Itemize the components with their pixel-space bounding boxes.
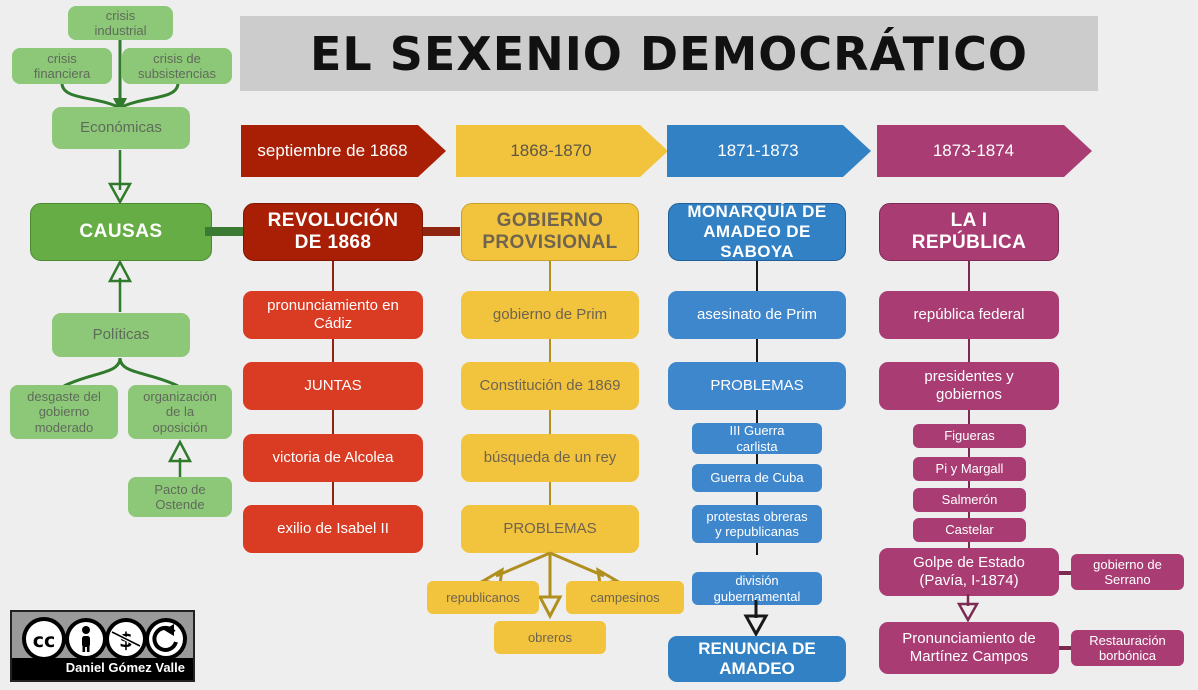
col-republica-president-1: Pi y Margall xyxy=(913,457,1026,481)
col-monarquia-header: MONARQUÍA DE AMADEO DE SABOYA xyxy=(668,203,846,261)
cause-crisis-industrial: crisis industrial xyxy=(68,6,173,40)
cause-crisis-financiera: crisis financiera xyxy=(12,48,112,84)
connector-blu-1 xyxy=(756,261,758,293)
connector-yel-1 xyxy=(549,261,551,293)
connector-red-4 xyxy=(332,482,334,506)
col-republica-item-0: república federal xyxy=(879,291,1059,339)
col-monarquia-sub-1: Guerra de Cuba xyxy=(692,464,822,492)
col-revolucion-item-2: victoria de Alcolea xyxy=(243,434,423,482)
connector-blu-6 xyxy=(756,543,758,555)
col-monarquia-sub-2: protestas obreras y republicanas xyxy=(692,505,822,543)
col-gobierno-item-2: búsqueda de un rey xyxy=(461,434,639,482)
connector-red-1 xyxy=(332,261,334,293)
banner-1868-1870: 1868-1870 xyxy=(456,125,668,177)
infographic-canvas: EL SEXENIO DEMOCRÁTICO crisis industrial… xyxy=(0,0,1198,690)
monarquia-end-arrow xyxy=(736,600,778,638)
col-monarquia-sub-0: III Guerra carlista xyxy=(692,423,822,454)
causes-connectors xyxy=(0,0,240,560)
cause-organizacion-oposicion: organización de la oposición xyxy=(128,385,232,439)
col-republica-president-0: Figueras xyxy=(913,424,1026,448)
banner-septiembre-1868: septiembre de 1868 xyxy=(241,125,446,177)
connector-red-3 xyxy=(332,410,334,435)
col-gobierno-branch-republicanos: republicanos xyxy=(427,581,539,614)
connector-red-2 xyxy=(332,339,334,363)
page-title: EL SEXENIO DEMOCRÁTICO xyxy=(240,16,1098,91)
license-author-bar: Daniel Gómez Valle xyxy=(12,658,193,680)
col-revolucion-header: REVOLUCIÓN DE 1868 xyxy=(243,203,423,261)
col-revolucion-item-0: pronunciamiento en Cádiz xyxy=(243,291,423,339)
col-revolucion-item-1: JUNTAS xyxy=(243,362,423,410)
col-gobierno-item-0: gobierno de Prim xyxy=(461,291,639,339)
license-badge[interactable]: cc $ Daniel Gómez Valle xyxy=(10,610,195,682)
cause-pacto-ostende: Pacto de Ostende xyxy=(128,477,232,517)
col-monarquia-item-1: PROBLEMAS xyxy=(668,362,846,410)
cause-desgaste-gobierno-moderado: desgaste del gobierno moderado xyxy=(10,385,118,439)
col-republica-item-1: presidentes y gobiernos xyxy=(879,362,1059,410)
connector-blu-5 xyxy=(756,492,758,506)
col-republica-pronunciamiento-side: Restauración borbónica xyxy=(1071,630,1184,666)
col-gobierno-header: GOBIERNO PROVISIONAL xyxy=(461,203,639,261)
col-gobierno-branch-obreros: obreros xyxy=(494,621,606,654)
col-republica-golpe: Golpe de Estado (Pavía, I-1874) xyxy=(879,548,1059,596)
col-gobierno-item-1: Constitución de 1869 xyxy=(461,362,639,410)
connector-pur-3 xyxy=(968,410,970,425)
col-republica-golpe-side: gobierno de Serrano xyxy=(1071,554,1184,590)
col-republica-president-2: Salmerón xyxy=(913,488,1026,512)
cause-crisis-subsistencias: crisis de subsistencias xyxy=(122,48,232,84)
banner-1873-1874: 1873-1874 xyxy=(877,125,1092,177)
cause-politicas: Políticas xyxy=(52,313,190,357)
col-revolucion-item-3: exilio de Isabel II xyxy=(243,505,423,553)
connector-pur-1 xyxy=(968,261,970,293)
banner-label: 1871-1873 xyxy=(667,141,871,161)
col-gobierno-branch-campesinos: campesinos xyxy=(566,581,684,614)
col-republica-president-3: Castelar xyxy=(913,518,1026,542)
connector-yel-4 xyxy=(549,482,551,506)
cause-causas-main: CAUSAS xyxy=(30,203,212,261)
license-author: Daniel Gómez Valle xyxy=(12,658,193,678)
col-gobierno-item-3: PROBLEMAS xyxy=(461,505,639,553)
connector-yel-3 xyxy=(549,410,551,435)
svg-text:cc: cc xyxy=(33,630,56,652)
connector-pur-2 xyxy=(968,339,970,363)
cause-economicas: Económicas xyxy=(52,107,190,149)
title-band: EL SEXENIO DEMOCRÁTICO xyxy=(240,16,1098,91)
col-republica-header: LA I REPÚBLICA xyxy=(879,203,1059,261)
connector-blu-2 xyxy=(756,339,758,363)
banner-label: 1868-1870 xyxy=(456,141,668,161)
banner-label: septiembre de 1868 xyxy=(241,141,446,161)
banner-1871-1873: 1871-1873 xyxy=(667,125,871,177)
banner-label: 1873-1874 xyxy=(877,141,1092,161)
col-monarquia-item-0: asesinato de Prim xyxy=(668,291,846,339)
license-icons: cc $ xyxy=(16,615,194,663)
connector-yel-2 xyxy=(549,339,551,363)
col-monarquia-end: RENUNCIA DE AMADEO xyxy=(668,636,846,682)
col-republica-pronunciamiento: Pronunciamiento de Martínez Campos xyxy=(879,622,1059,674)
